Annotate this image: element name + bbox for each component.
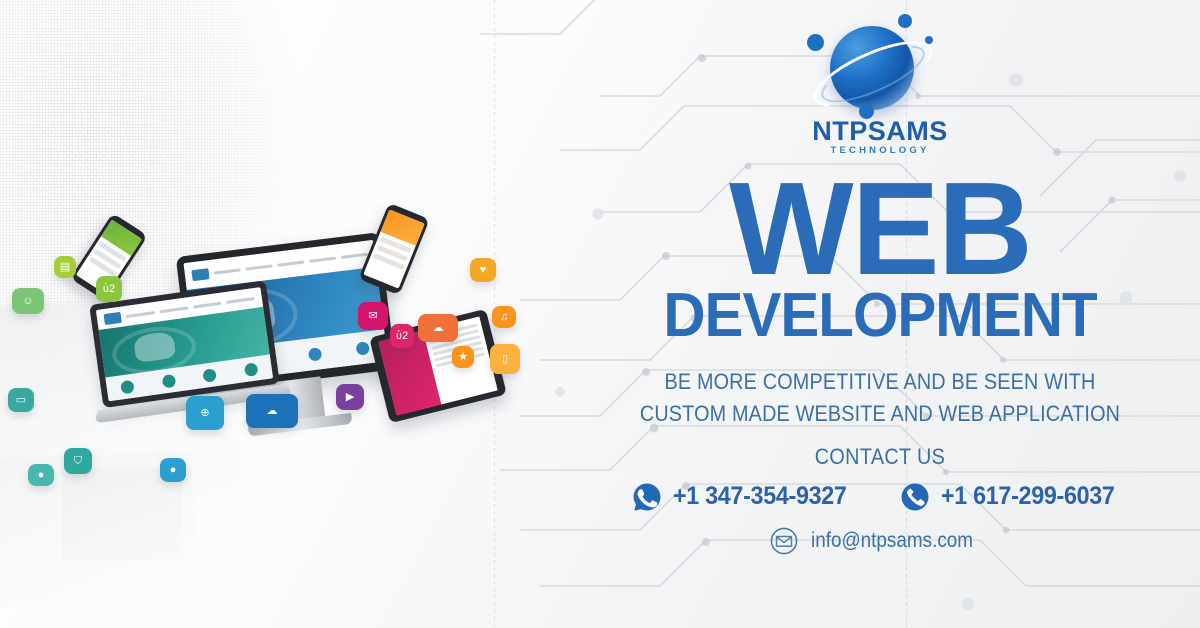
mail-icon: ✉ [358,302,388,330]
music-icon: ♫ [492,306,516,328]
headline-primary: WEB [560,174,1200,285]
responsive-devices-collage: ὑ2▤☺▭⛉●⊕☁●▶✉ὑ2♥♫▯★☁ [0,196,560,516]
banner-content: NTPSAMS TECHNOLOGY WEB DEVELOPMENT BE MO… [560,0,1200,628]
whatsapp-contact[interactable]: +1 347-354-9327 [632,482,860,512]
web-development-banner: ὑ2▤☺▭⛉●⊕☁●▶✉ὑ2♥♫▯★☁ NTPSAMS TECHNOLOGY W… [0,0,1200,628]
phone-number[interactable]: +1 617-299-6037 [941,482,1115,511]
lock-pink-icon: ὑ2 [390,324,414,348]
orange-phone-body [358,203,430,296]
tagline-line-1: BE MORE COMPETITIVE AND BE SEEN WITH [598,366,1161,398]
tagline: BE MORE COMPETITIVE AND BE SEEN WITH CUS… [598,366,1161,430]
satellite-dot-icon [898,14,912,28]
mockup-logo [191,268,209,281]
whatsapp-number[interactable]: +1 347-354-9327 [673,482,847,511]
chart-icon: ▤ [54,256,76,278]
orange-app-mockup [363,209,424,288]
play-icon: ▶ [336,384,364,410]
smartphone-orange [358,203,430,296]
user-cloud-icon: ☁ [246,394,298,428]
cart-icon: ⛉ [64,448,92,474]
contact-us-label: CONTACT US [592,444,1168,470]
brand-name: NTPSAMS [795,116,965,147]
cloud-phone-icon: ☁ [418,314,458,342]
brand-subtitle: TECHNOLOGY [795,145,965,156]
email-icon[interactable] [769,526,799,556]
email-contact[interactable]: info@ntpsams.com [560,526,1200,556]
laptop-mockup-logo [103,311,121,324]
laptop-icon: ▭ [8,388,34,412]
user-icon: ● [160,458,186,482]
email-address[interactable]: info@ntpsams.com [811,529,973,553]
phone-contact[interactable]: +1 617-299-6037 [900,482,1128,512]
whatsapp-icon[interactable] [632,482,662,512]
satellite-dot-icon [807,34,824,51]
satellite-dot-icon [925,36,933,44]
star-icon: ★ [452,346,474,368]
brand-logo: NTPSAMS TECHNOLOGY [795,12,965,164]
headline-secondary: DEVELOPMENT [579,287,1181,346]
globe-icon: ⊕ [186,396,224,430]
chat-icon: ● [28,464,54,486]
chat-users-icon: ☺ [12,288,44,314]
phone-icon[interactable] [900,482,930,512]
mobile-icon: ▯ [490,344,520,374]
lock-icon: ὑ2 [96,276,122,302]
phone-numbers-row: +1 347-354-9327 +1 617-299-6037 [560,482,1200,512]
heart-icon: ♥ [470,258,496,282]
tagline-line-2: CUSTOM MADE WEBSITE AND WEB APPLICATION [598,398,1161,430]
laptop-website-mockup [96,287,273,401]
